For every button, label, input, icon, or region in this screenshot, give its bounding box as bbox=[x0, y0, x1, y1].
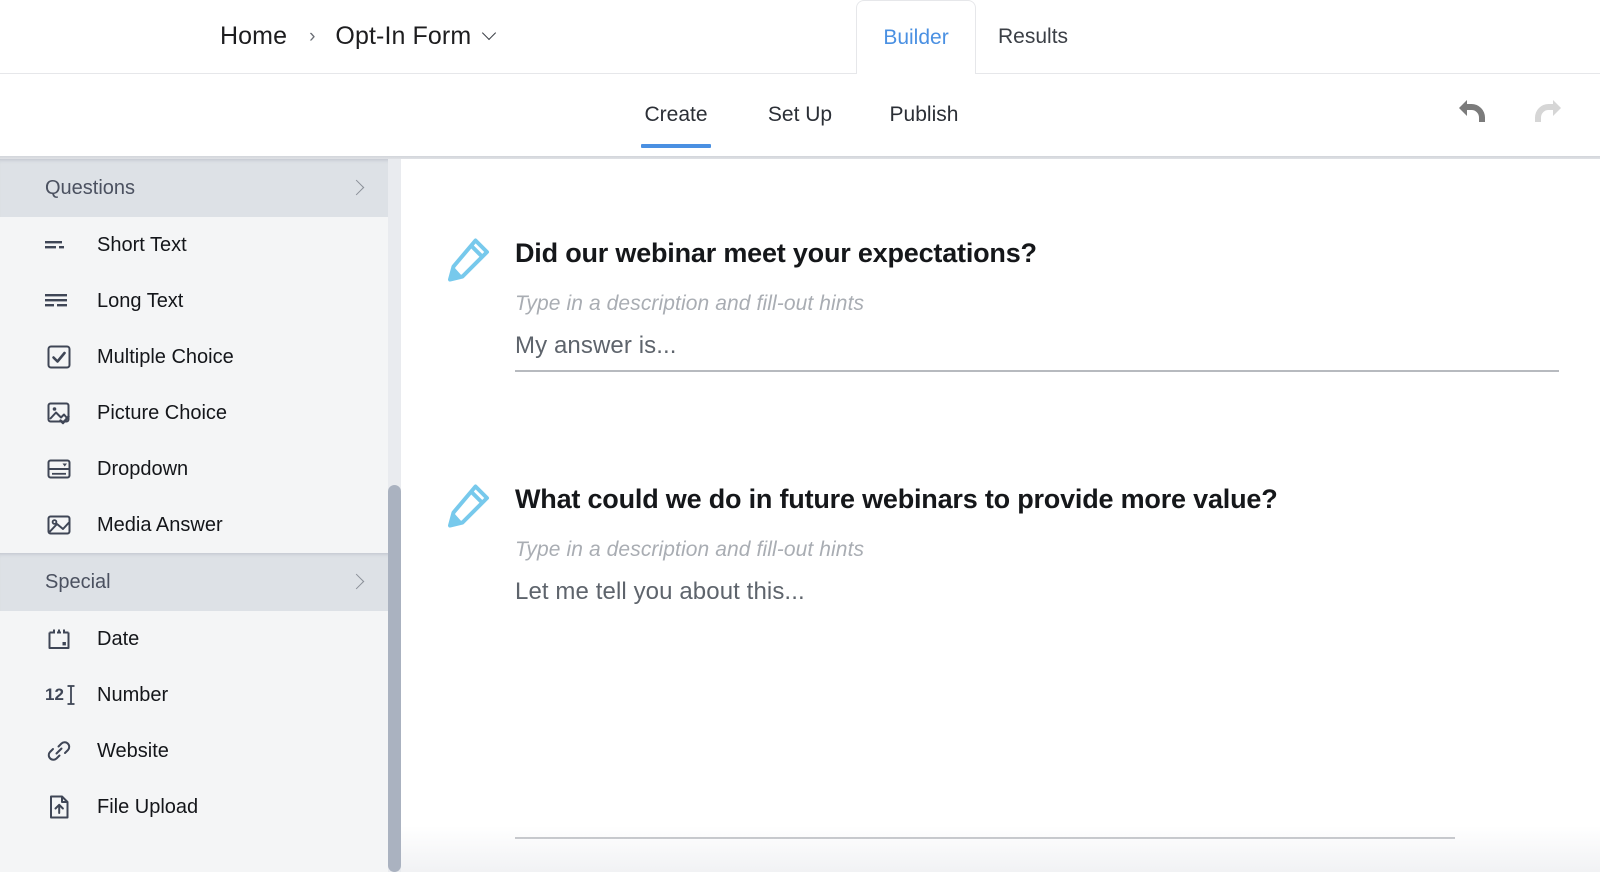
sidebar-item-picture-choice-label: Picture Choice bbox=[97, 402, 227, 425]
sidebar-scrollbar-thumb[interactable] bbox=[388, 485, 401, 872]
breadcrumb-home[interactable]: Home bbox=[220, 22, 287, 51]
subnav-publish-label: Publish bbox=[890, 103, 959, 127]
sidebar-item-file-upload[interactable]: File Upload bbox=[0, 779, 389, 835]
breadcrumb-separator: › bbox=[309, 26, 315, 48]
breadcrumb: Home › Opt-In Form bbox=[220, 0, 497, 73]
long-text-icon bbox=[45, 291, 79, 311]
pencil-icon[interactable] bbox=[445, 483, 491, 534]
tab-builder-label: Builder bbox=[883, 26, 948, 50]
undo-icon[interactable] bbox=[1458, 100, 1494, 130]
subnav-item-create[interactable]: Create bbox=[614, 74, 738, 156]
tab-results[interactable]: Results bbox=[976, 0, 1090, 74]
sidebar-group-questions[interactable]: Questions bbox=[0, 159, 389, 217]
sidebar-item-dropdown[interactable]: Dropdown bbox=[0, 441, 389, 497]
redo-icon bbox=[1526, 100, 1562, 130]
subnav-create-label: Create bbox=[644, 103, 707, 127]
sub-bar: Create Set Up Publish bbox=[0, 74, 1600, 156]
chevron-right-icon bbox=[351, 576, 363, 588]
form-canvas: Did our webinar meet your expectations? … bbox=[401, 159, 1600, 872]
checkbox-icon bbox=[45, 343, 79, 371]
sidebar-item-file-upload-label: File Upload bbox=[97, 796, 198, 819]
sidebar-item-long-text[interactable]: Long Text bbox=[0, 273, 389, 329]
answer-underline bbox=[515, 837, 1455, 839]
tab-builder[interactable]: Builder bbox=[856, 0, 976, 74]
breadcrumb-current[interactable]: Opt-In Form bbox=[335, 22, 471, 51]
sidebar-item-number[interactable]: 12 Number bbox=[0, 667, 389, 723]
link-icon bbox=[45, 737, 79, 765]
sidebar-item-media-answer[interactable]: Media Answer bbox=[0, 497, 389, 553]
subnav-item-publish[interactable]: Publish bbox=[862, 74, 986, 156]
sidebar-item-media-answer-label: Media Answer bbox=[97, 514, 223, 537]
sidebar: Questions Short Text bbox=[0, 159, 389, 872]
subnav-item-setup[interactable]: Set Up bbox=[738, 74, 862, 156]
sidebar-item-multiple-choice-label: Multiple Choice bbox=[97, 346, 234, 369]
question-description-placeholder[interactable]: Type in a description and fill-out hints bbox=[515, 292, 1559, 316]
short-text-icon bbox=[45, 236, 79, 254]
sidebar-item-website-label: Website bbox=[97, 740, 169, 763]
tab-results-label: Results bbox=[998, 25, 1068, 49]
pencil-icon[interactable] bbox=[445, 237, 491, 288]
dropdown-icon bbox=[45, 455, 79, 483]
sidebar-item-long-text-label: Long Text bbox=[97, 290, 183, 313]
question-card[interactable]: Did our webinar meet your expectations? … bbox=[445, 237, 1559, 372]
answer-underline bbox=[515, 370, 1559, 372]
sidebar-item-short-text-label: Short Text bbox=[97, 234, 187, 257]
picture-check-icon bbox=[45, 399, 79, 427]
sidebar-item-number-label: Number bbox=[97, 684, 168, 707]
question-title[interactable]: What could we do in future webinars to p… bbox=[515, 483, 1559, 515]
question-answer-placeholder[interactable]: My answer is... bbox=[515, 332, 1559, 360]
number-12-icon: 12 bbox=[45, 684, 79, 706]
sidebar-group-special[interactable]: Special bbox=[0, 553, 389, 611]
question-card[interactable]: What could we do in future webinars to p… bbox=[445, 483, 1559, 606]
sidebar-item-website[interactable]: Website bbox=[0, 723, 389, 779]
top-bar: Home › Opt-In Form Builder Results bbox=[0, 0, 1600, 74]
chevron-right-icon bbox=[351, 182, 363, 194]
history-controls bbox=[1458, 74, 1562, 156]
question-description-placeholder[interactable]: Type in a description and fill-out hints bbox=[515, 538, 1559, 562]
form-builder-app: Home › Opt-In Form Builder Results Creat… bbox=[0, 0, 1600, 872]
top-tab-group: Builder Results bbox=[856, 0, 1090, 74]
question-title[interactable]: Did our webinar meet your expectations? bbox=[515, 237, 1559, 269]
sub-nav: Create Set Up Publish bbox=[0, 74, 1600, 156]
chevron-down-icon[interactable] bbox=[483, 27, 497, 41]
subnav-setup-label: Set Up bbox=[768, 103, 832, 127]
number-glyph: 12 bbox=[45, 685, 64, 705]
sidebar-item-date-label: Date bbox=[97, 628, 139, 651]
sidebar-group-questions-label: Questions bbox=[45, 177, 135, 200]
sidebar-item-short-text[interactable]: Short Text bbox=[0, 217, 389, 273]
calendar-icon bbox=[45, 625, 79, 653]
sidebar-item-multiple-choice[interactable]: Multiple Choice bbox=[0, 329, 389, 385]
file-upload-icon bbox=[45, 793, 79, 821]
sidebar-item-dropdown-label: Dropdown bbox=[97, 458, 188, 481]
question-answer-placeholder[interactable]: Let me tell you about this... bbox=[515, 578, 1559, 606]
sidebar-item-picture-choice[interactable]: Picture Choice bbox=[0, 385, 389, 441]
media-image-icon bbox=[45, 511, 79, 539]
sidebar-group-special-label: Special bbox=[45, 571, 111, 594]
sidebar-item-date[interactable]: Date bbox=[0, 611, 389, 667]
